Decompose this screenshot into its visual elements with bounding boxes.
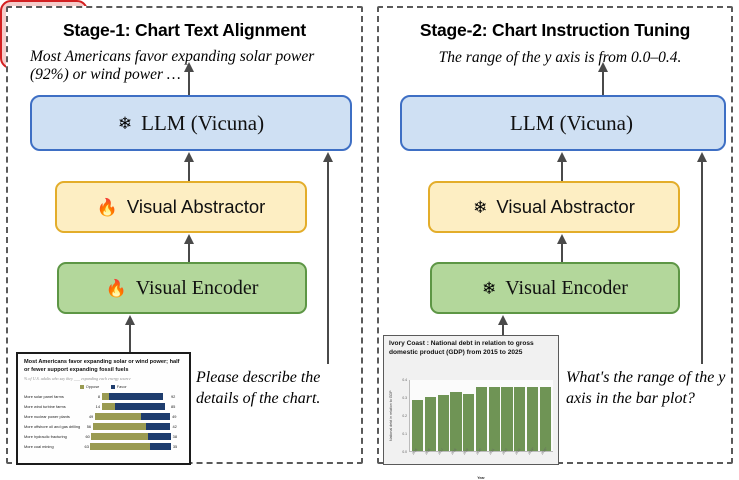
arrow-abstractor-to-llm-1 bbox=[183, 152, 195, 181]
arrowshaft bbox=[602, 70, 604, 95]
row-label: More nuclear power plants bbox=[24, 414, 83, 419]
arrowshaft bbox=[188, 70, 190, 95]
oppose-bar bbox=[90, 443, 150, 450]
fire-icon: 🔥 bbox=[106, 280, 127, 297]
ytick-label: 0.3 bbox=[402, 396, 407, 400]
bar bbox=[540, 387, 551, 451]
bar-group bbox=[102, 403, 170, 410]
source-chart-1-subtitle: % of U.S. adults who say they ___ expand… bbox=[24, 376, 183, 381]
row-label: More offshore oil and gas drilling bbox=[24, 424, 81, 429]
favor-value: 42 bbox=[170, 424, 183, 429]
table-row: More wind turbine farms1485 bbox=[24, 401, 183, 411]
stage-1-answer-text: Most Americans favor expanding solar pow… bbox=[30, 48, 325, 85]
source-chart-2-xticks: 2015201620172018201920202021202220232024… bbox=[409, 453, 553, 475]
stage-1-instruction-prompt: Please describe the details of the chart… bbox=[196, 368, 346, 410]
arrow-llm-to-answer-1 bbox=[183, 62, 195, 95]
source-chart-1-title: Most Americans favor expanding solar or … bbox=[24, 359, 183, 374]
bar bbox=[438, 395, 449, 451]
arrowshaft bbox=[188, 242, 190, 262]
stage-2-llm-box[interactable]: LLM (Vicuna) bbox=[400, 95, 726, 151]
stage-2-visual-abstractor-box[interactable]: ❄ Visual Abstractor bbox=[428, 181, 680, 233]
bar-group bbox=[102, 393, 170, 400]
favor-bar bbox=[115, 403, 165, 410]
source-chart-2-bars bbox=[409, 380, 553, 452]
arrowshaft bbox=[327, 160, 329, 364]
favor-bar bbox=[141, 413, 170, 420]
favor-bar bbox=[109, 393, 163, 400]
bar bbox=[501, 387, 512, 451]
stage-1-visual-abstractor-box[interactable]: 🔥 Visual Abstractor bbox=[55, 181, 307, 233]
arrow-abstractor-to-llm-2 bbox=[556, 152, 568, 181]
arrow-encoder-to-abstractor-2 bbox=[556, 234, 568, 262]
source-chart-2-title: Ivory Coast : National debt in relation … bbox=[389, 340, 553, 357]
favor-value: 92 bbox=[169, 394, 183, 399]
snowflake-icon: ❄ bbox=[118, 115, 132, 132]
ytick-label: 0.4 bbox=[402, 378, 407, 382]
arrowshaft bbox=[561, 160, 563, 181]
bar bbox=[489, 387, 500, 451]
oppose-value: 63 bbox=[80, 444, 91, 449]
stage-1-visual-encoder-box[interactable]: 🔥 Visual Encoder bbox=[57, 262, 307, 314]
legend-item-favor: Favor bbox=[111, 384, 126, 389]
arrowshaft bbox=[188, 160, 190, 181]
stage-2-instruction-prompt: What's the range of the y axis in the ba… bbox=[566, 368, 726, 410]
favor-bar bbox=[146, 423, 171, 430]
oppose-value: 14 bbox=[89, 404, 102, 409]
source-chart-2-plot-area: National debt in relation to GDP 0.00.10… bbox=[389, 380, 553, 458]
oppose-value: 8 bbox=[89, 394, 102, 399]
row-label: More wind turbine farms bbox=[24, 404, 89, 409]
favor-value: 49 bbox=[170, 414, 183, 419]
table-row: More coal mining6335 bbox=[24, 441, 183, 451]
arrow-encoder-to-abstractor-1 bbox=[183, 234, 195, 262]
row-label: More hydraulic fracturing bbox=[24, 434, 80, 439]
bar-group bbox=[91, 433, 170, 440]
stage-1-llm-box[interactable]: ❄ LLM (Vicuna) bbox=[30, 95, 352, 151]
bar bbox=[514, 387, 525, 451]
stage-1-title: Stage-1: Chart Text Alignment bbox=[8, 20, 361, 41]
table-row: More solar panel farms892 bbox=[24, 391, 183, 401]
stage-2-title: Stage-2: Chart Instruction Tuning bbox=[379, 20, 731, 41]
favor-value: 35 bbox=[171, 444, 183, 449]
bar bbox=[463, 394, 474, 451]
bar bbox=[450, 392, 461, 451]
bar bbox=[527, 387, 538, 451]
snowflake-icon: ❄ bbox=[473, 199, 487, 216]
source-chart-2-yticks: 0.00.10.20.30.4 bbox=[397, 380, 408, 452]
oppose-value: 56 bbox=[81, 424, 92, 429]
row-label: More coal mining bbox=[24, 444, 80, 449]
oppose-bar bbox=[102, 403, 115, 410]
bar bbox=[476, 387, 487, 451]
ytick-label: 0.0 bbox=[402, 450, 407, 454]
table-row: More nuclear power plants4949 bbox=[24, 411, 183, 421]
stage-1-visual-encoder-label: Visual Encoder bbox=[136, 277, 259, 300]
oppose-value: 60 bbox=[80, 434, 91, 439]
arrow-prompt-to-llm-1 bbox=[322, 152, 334, 364]
fire-icon: 🔥 bbox=[97, 199, 118, 216]
oppose-bar bbox=[93, 423, 146, 430]
oppose-bar bbox=[102, 393, 110, 400]
row-label: More solar panel farms bbox=[24, 394, 89, 399]
arrowshaft bbox=[701, 160, 703, 364]
arrow-chart-to-encoder-2 bbox=[497, 315, 509, 337]
source-chart-1-rows: More solar panel farms892More wind turbi… bbox=[24, 391, 183, 451]
source-chart-2-xlabel: Year bbox=[409, 476, 553, 480]
snowflake-icon: ❄ bbox=[482, 280, 496, 297]
stage-2-llm-label: LLM (Vicuna) bbox=[510, 111, 633, 136]
source-chart-1-legend: Oppose Favor bbox=[24, 384, 183, 389]
bar-group bbox=[93, 423, 171, 430]
favor-value: 38 bbox=[171, 434, 183, 439]
stage-2-answer-text: The range of the y axis is from 0.0–0.4. bbox=[395, 49, 725, 67]
stage-2-visual-encoder-box[interactable]: ❄ Visual Encoder bbox=[430, 262, 680, 314]
table-row: More hydraulic fracturing6038 bbox=[24, 431, 183, 441]
arrowshaft bbox=[561, 242, 563, 262]
favor-bar bbox=[150, 443, 171, 450]
oppose-bar bbox=[91, 433, 148, 440]
stage-2-visual-abstractor-label: Visual Abstractor bbox=[496, 196, 634, 218]
bar-group bbox=[95, 413, 170, 420]
table-row: More offshore oil and gas drilling5642 bbox=[24, 421, 183, 431]
arrow-llm-to-answer-2 bbox=[597, 62, 609, 95]
favor-value: 85 bbox=[169, 404, 183, 409]
stage-1-visual-abstractor-label: Visual Abstractor bbox=[127, 196, 265, 218]
stage-2-visual-encoder-label: Visual Encoder bbox=[505, 277, 628, 300]
oppose-value: 49 bbox=[83, 414, 94, 419]
ytick-label: 0.2 bbox=[402, 414, 407, 418]
source-chart-2-ylabel: National debt in relation to GDP bbox=[389, 380, 397, 452]
arrowshaft bbox=[129, 323, 131, 352]
stage-1-llm-label: LLM (Vicuna) bbox=[141, 111, 264, 136]
stage-1-source-chart: Most Americans favor expanding solar or … bbox=[16, 352, 191, 465]
oppose-bar bbox=[95, 413, 142, 420]
arrow-prompt-to-llm-2 bbox=[696, 152, 708, 364]
legend-item-oppose: Oppose bbox=[80, 384, 99, 389]
stage-2-source-chart: Ivory Coast : National debt in relation … bbox=[383, 335, 559, 465]
bar-group bbox=[90, 443, 170, 450]
favor-bar bbox=[148, 433, 170, 440]
ytick-label: 0.1 bbox=[402, 432, 407, 436]
arrow-chart-to-encoder-1 bbox=[124, 315, 136, 352]
